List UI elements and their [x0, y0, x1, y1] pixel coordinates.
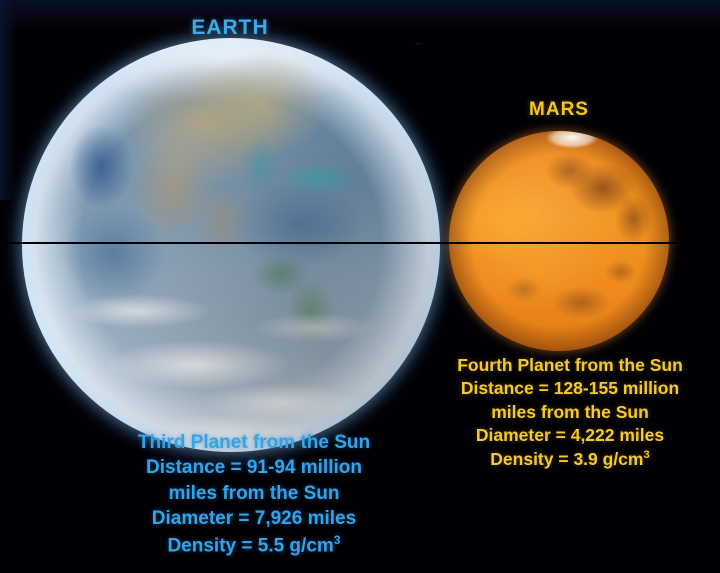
mars-image — [449, 131, 669, 351]
earth-image — [22, 38, 440, 452]
mars-distance-line-2: miles from the Sun — [428, 401, 712, 424]
planet-comparison-figure: EARTH MARS ••• Third Planet from the Sun… — [0, 0, 720, 573]
mars-density-label: Density = 3.9 g/cm — [490, 449, 643, 469]
earth-diameter-line: Diameter = 7,926 miles — [44, 506, 464, 531]
earth-title: EARTH — [0, 16, 460, 40]
watermark-text: ••• — [406, 40, 432, 49]
mars-fact-block: Fourth Planet from the Sun Distance = 12… — [428, 354, 712, 471]
earth-density-line: Density = 5.5 g/cm3 — [44, 532, 464, 559]
mars-title: MARS — [449, 99, 669, 121]
mars-density-exponent: 3 — [643, 449, 649, 461]
mars-diameter-line: Diameter = 4,222 miles — [428, 424, 712, 447]
earth-terminator-shading — [22, 38, 440, 452]
earth-globe — [22, 38, 440, 452]
earth-distance-line-2: miles from the Sun — [44, 481, 464, 506]
mars-density-line: Density = 3.9 g/cm3 — [428, 448, 712, 471]
earth-order-line: Third Planet from the Sun — [44, 430, 464, 455]
earth-fact-block: Third Planet from the Sun Distance = 91-… — [44, 430, 464, 559]
mars-order-line: Fourth Planet from the Sun — [428, 354, 712, 377]
earth-density-exponent: 3 — [334, 533, 341, 547]
earth-density-label: Density = 5.5 g/cm — [167, 535, 333, 556]
equator-comparison-line — [0, 242, 720, 244]
earth-distance-line-1: Distance = 91-94 million — [44, 455, 464, 480]
mars-distance-line-1: Distance = 128-155 million — [428, 377, 712, 400]
mars-globe — [449, 131, 669, 351]
